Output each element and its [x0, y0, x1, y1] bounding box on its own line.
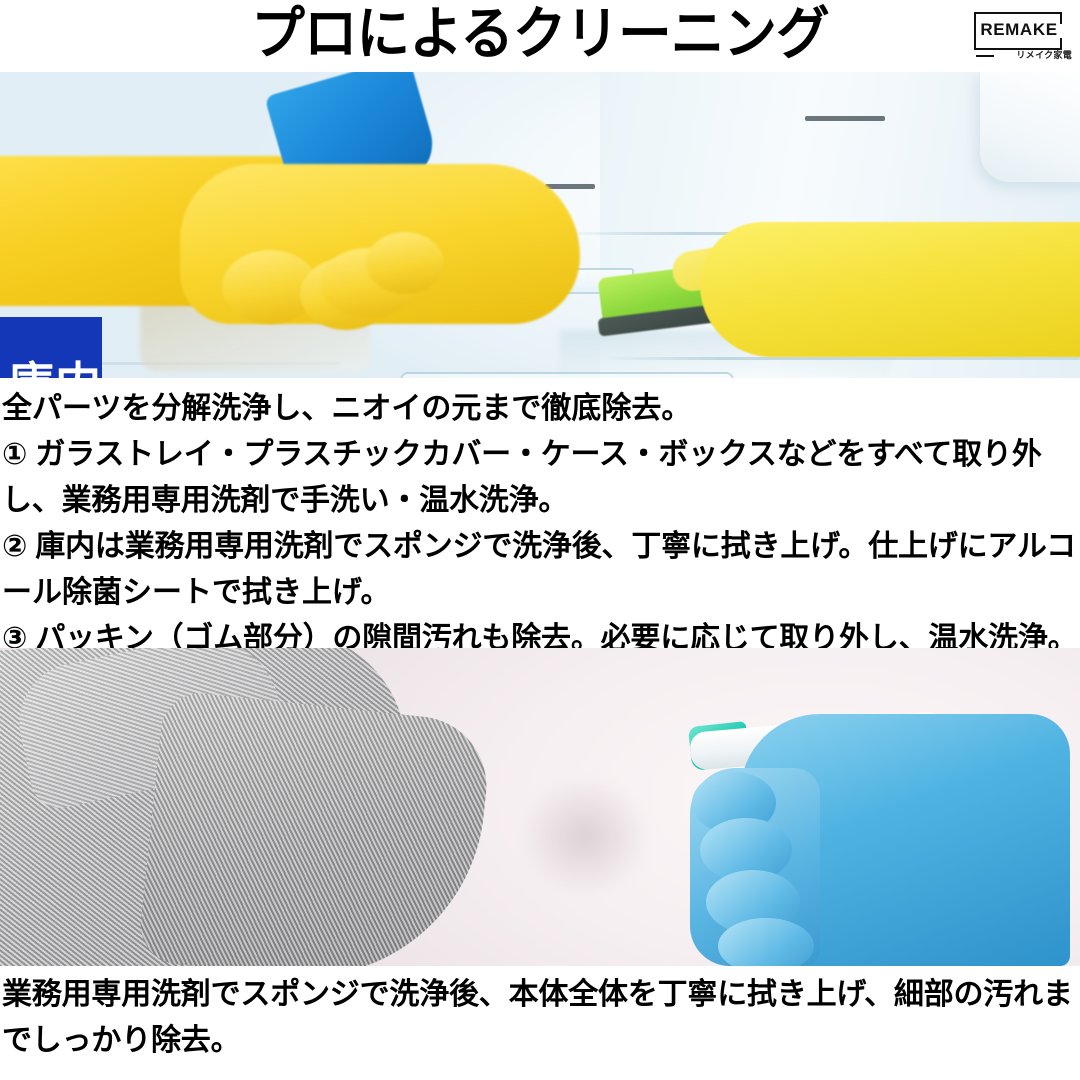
- logo-wordmark: REMAKE: [976, 20, 1062, 40]
- section-badge-interior-label: 庫内: [0, 361, 102, 379]
- section-badge-interior: 庫内: [0, 317, 102, 378]
- text-line: し、業務用専用洗剤で手洗い・温水洗浄。: [2, 478, 1078, 524]
- yellow-glove-hand-right: [700, 222, 1080, 357]
- soft-shadow: [520, 776, 650, 896]
- shelf-rail: [545, 184, 595, 189]
- text-line: ① ガラストレイ・プラスチックカバー・ケース・ボックスなどをすべて取り外: [2, 432, 1078, 478]
- glove-finger: [718, 918, 814, 966]
- page-header: プロによるクリーニング REMAKE リメイク家電: [0, 0, 1080, 72]
- text-line: ② 庫内は業務用専用洗剤でスポンジで洗浄後、丁寧に拭き上げ。仕上げにアルコ: [2, 524, 1078, 570]
- page-title: プロによるクリーニング: [32, 0, 1047, 70]
- white-container: [980, 72, 1080, 182]
- shelf-rail: [805, 116, 885, 121]
- text-line: 業務用専用洗剤でスポンジで洗浄後、本体全体を丁寧に拭き上げ、細部の汚れま: [2, 972, 1078, 1018]
- text-line: でしっかり除去。: [2, 1018, 1078, 1064]
- logo-subtitle: リメイク家電: [1016, 50, 1072, 61]
- exterior-description: 業務用専用洗剤でスポンジで洗浄後、本体全体を丁寧に拭き上げ、細部の汚れま でしっ…: [2, 972, 1078, 1064]
- text-line: 全パーツを分解洗浄し、ニオイの元まで徹底除去。: [2, 386, 1078, 432]
- text-line: ール除菌シートで拭き上げ。: [2, 570, 1078, 616]
- photo-exterior-cleaning: 外装: [0, 648, 1080, 966]
- infographic-page: プロによるクリーニング REMAKE リメイク家電: [0, 0, 1080, 1080]
- glove-finger: [366, 232, 444, 294]
- logo-dash-icon: [976, 55, 994, 57]
- interior-description: 全パーツを分解洗浄し、ニオイの元まで徹底除去。 ① ガラストレイ・プラスチックカ…: [2, 386, 1078, 662]
- photo-interior-cleaning: 庫内: [0, 72, 1080, 378]
- remake-logo: REMAKE リメイク家電: [970, 6, 1074, 64]
